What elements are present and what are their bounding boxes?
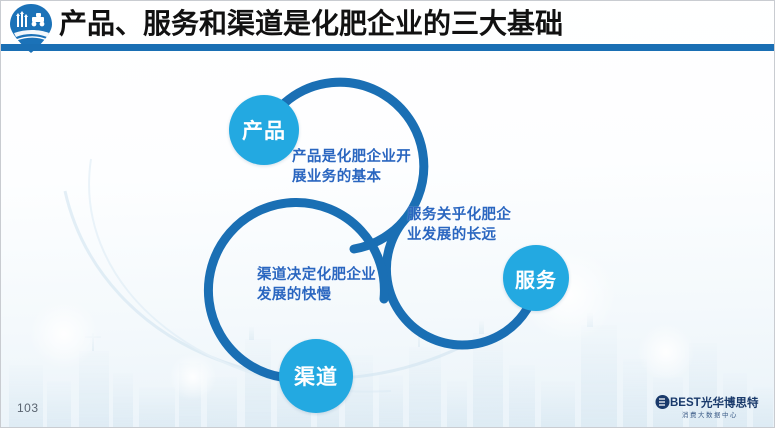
node-caption-product: 产品是化肥企业开展业务的基本 [292, 147, 416, 187]
brand-mark-text: BEST [670, 397, 701, 409]
brand-sub-text: 消费大数据中心 [682, 410, 738, 419]
slide-canvas: 产品、服务和渠道是化肥企业的三大基础 产品 服务 渠道 产品是化肥企业开展业务的… [0, 0, 775, 428]
three-ring-arcs [1, 49, 775, 428]
concept-diagram: 产品 服务 渠道 产品是化肥企业开展业务的基本 服务关乎化肥企业发展的长远 渠道… [1, 49, 775, 428]
node-badge-service[interactable]: 服务 [503, 245, 569, 311]
page-title: 产品、服务和渠道是化肥企业的三大基础 [59, 7, 563, 41]
node-badge-product[interactable]: 产品 [229, 95, 299, 165]
node-caption-channel: 渠道决定化肥企业发展的快慢 [257, 265, 379, 305]
slide-header: 产品、服务和渠道是化肥企业的三大基础 [1, 1, 775, 53]
brand-name-text: 光华博思特 [700, 396, 759, 410]
page-number: 103 [17, 401, 39, 415]
node-badge-channel[interactable]: 渠道 [279, 339, 353, 413]
brand-logo: BEST 光华博思特 消费大数据中心 [654, 391, 766, 421]
node-caption-service: 服务关乎化肥企业发展的长远 [407, 205, 525, 245]
